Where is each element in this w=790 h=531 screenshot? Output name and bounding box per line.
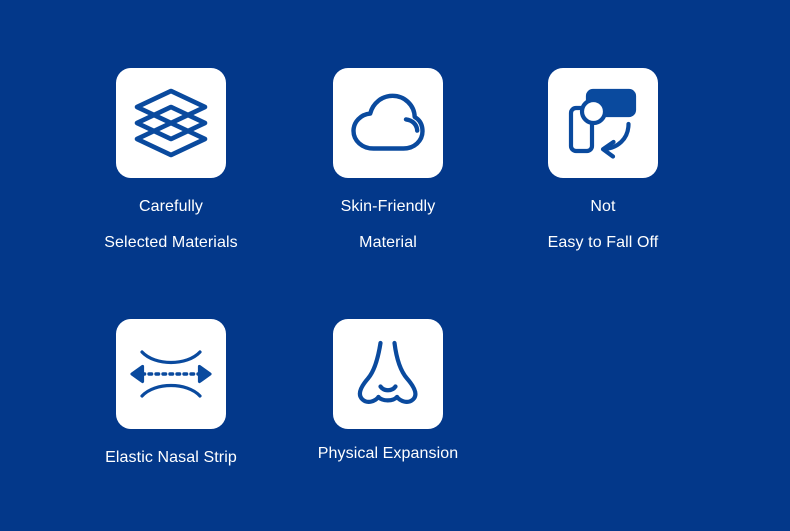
feature-label-line1: Not: [518, 196, 688, 217]
feature-board: Carefully Selected Materials Skin-Friend…: [0, 0, 790, 531]
icon-tile-cloud: [333, 68, 443, 178]
feature-label-line1: Carefully: [86, 196, 256, 217]
nose-icon: [351, 339, 425, 409]
elastic-stretch-icon: [129, 346, 213, 402]
layers-icon: [133, 87, 209, 159]
feature-label-line1: Skin-Friendly: [303, 196, 473, 217]
feature-item-physical-expansion[interactable]: Physical Expansion: [303, 319, 473, 464]
icon-tile-nose: [333, 319, 443, 429]
cloud-icon: [350, 92, 426, 154]
feature-item-selected-materials[interactable]: Carefully Selected Materials: [86, 68, 256, 253]
icon-tile-adhesion: [548, 68, 658, 178]
feature-item-elastic-nasal-strip[interactable]: Elastic Nasal Strip: [86, 319, 256, 468]
feature-label-line1: Elastic Nasal Strip: [86, 447, 256, 468]
icon-tile-elastic: [116, 319, 226, 429]
feature-label-line2: Material: [303, 232, 473, 253]
icon-tile-layers: [116, 68, 226, 178]
feature-label-line1: Physical Expansion: [303, 443, 473, 464]
feature-label-line2: Selected Materials: [86, 232, 256, 253]
feature-label-line2: Easy to Fall Off: [518, 232, 688, 253]
feature-item-not-easy-to-fall-off[interactable]: Not Easy to Fall Off: [518, 68, 688, 253]
nasal-strip-adhesion-icon: [566, 86, 640, 160]
feature-item-skin-friendly[interactable]: Skin-Friendly Material: [303, 68, 473, 253]
